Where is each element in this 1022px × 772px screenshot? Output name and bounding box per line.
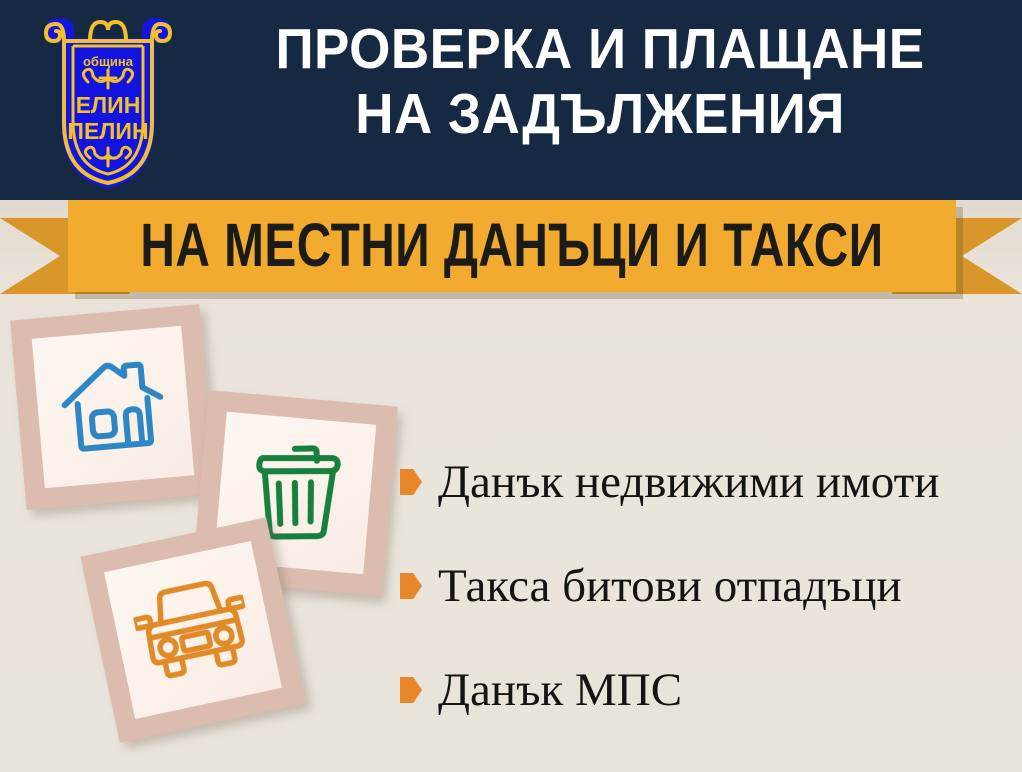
logo-line-1: община <box>83 54 134 69</box>
arrow-bullet-icon <box>400 469 422 495</box>
stamp-vehicle-tax <box>80 517 305 742</box>
municipality-logo: община ЕЛИН ПЕЛИН <box>28 8 188 193</box>
title-line-1: ПРОВЕРКА И ПЛАЩАНЕ <box>219 22 982 77</box>
title-line-2: НА ЗАДЪЛЖЕНИЯ <box>219 87 982 142</box>
poster-canvas: община ЕЛИН ПЕЛИН <box>0 0 1022 772</box>
stamp-face <box>32 326 195 489</box>
stamp-property-tax <box>10 304 216 510</box>
arrow-bullet-icon <box>400 573 422 599</box>
list-item-label: Данък МПС <box>438 667 682 714</box>
header-bar: община ЕЛИН ПЕЛИН <box>0 0 1022 200</box>
list-item[interactable]: Данък недвижими имоти <box>400 430 1010 534</box>
ribbon-label: НА МЕСТНИ ДАНЪЦИ И ТАКСИ <box>140 211 883 282</box>
ribbon-panel: НА МЕСТНИ ДАНЪЦИ И ТАКСИ <box>68 200 956 292</box>
list-item[interactable]: Такса битови отпадъци <box>400 534 1010 638</box>
page-title: ПРОВЕРКА И ПЛАЩАНЕ НА ЗАДЪЛЖЕНИЯ <box>190 22 1010 143</box>
list-item-label: Данък недвижими имоти <box>438 459 939 506</box>
subtitle-ribbon: НА МЕСТНИ ДАНЪЦИ И ТАКСИ <box>0 200 1022 300</box>
tax-type-list: Данък недвижими имоти Такса битови отпад… <box>400 430 1010 742</box>
coat-of-arms-icon: община ЕЛИН ПЕЛИН <box>28 8 188 193</box>
car-front-icon <box>128 572 257 687</box>
logo-line-3: ПЕЛИН <box>67 118 148 144</box>
stamp-face <box>104 541 282 719</box>
arrow-bullet-icon <box>400 677 422 703</box>
house-icon <box>57 353 169 462</box>
logo-line-2: ЕЛИН <box>76 92 141 118</box>
list-item-label: Такса битови отпадъци <box>438 563 902 610</box>
list-item[interactable]: Данък МПС <box>400 638 1010 742</box>
stamp-group <box>0 290 420 772</box>
